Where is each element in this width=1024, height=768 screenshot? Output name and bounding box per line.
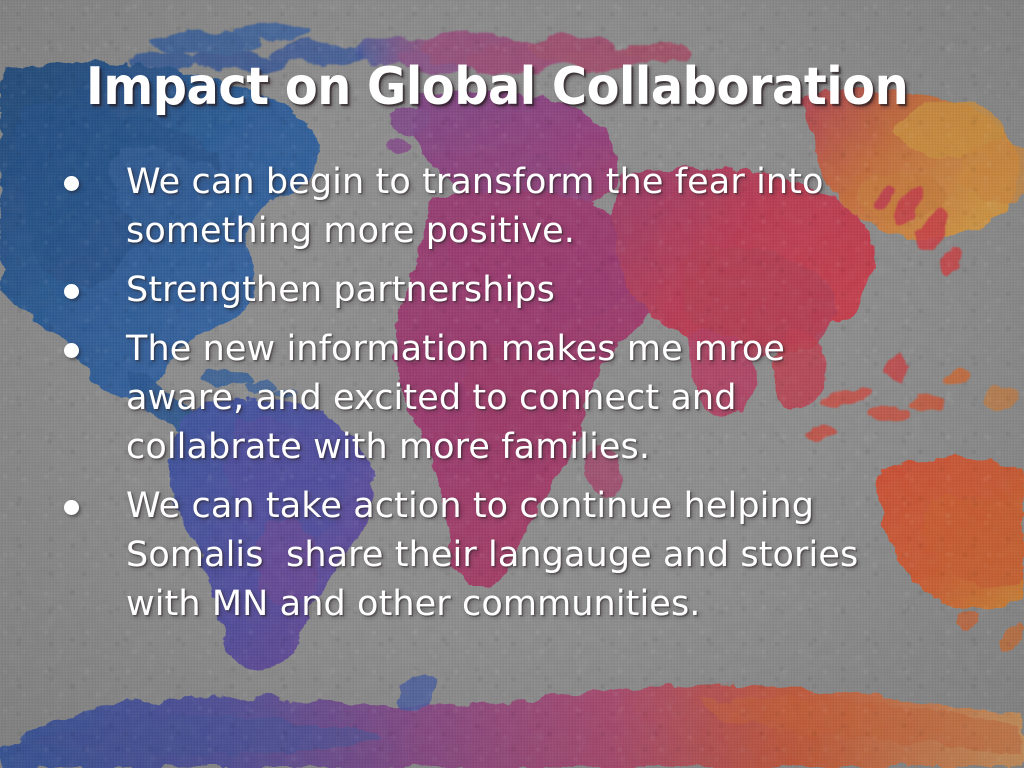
bullet-item: Strengthen partnerships (56, 266, 916, 315)
slide-title: Impact on Global Collaboration (86, 58, 908, 116)
bullet-text: We can take action to continue helping S… (126, 482, 886, 629)
bullet-text: We can begin to transform the fear into … (126, 158, 886, 256)
bullet-item: We can take action to continue helping S… (56, 482, 916, 629)
bullet-item: The new information makes me mroe aware,… (56, 325, 916, 472)
bullet-point-icon (64, 176, 79, 191)
bullet-text: The new information makes me mroe aware,… (126, 325, 886, 472)
presentation-slide: Impact on Global Collaboration We can be… (0, 0, 1024, 768)
bullet-text: Strengthen partnerships (126, 266, 886, 315)
bullet-point-icon (64, 284, 79, 299)
bullet-point-icon (64, 343, 79, 358)
bullet-list: We can begin to transform the fear into … (56, 158, 916, 639)
bullet-point-icon (64, 500, 79, 515)
bullet-item: We can begin to transform the fear into … (56, 158, 916, 256)
